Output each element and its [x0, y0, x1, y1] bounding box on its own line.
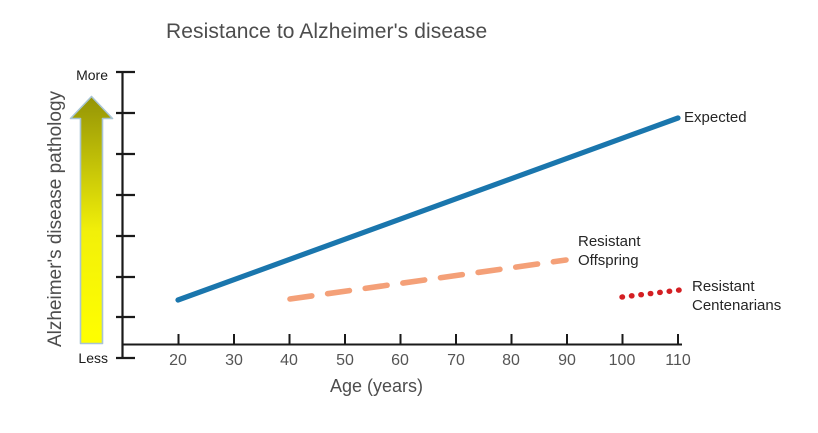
y-axis [116, 71, 135, 359]
x-tick-label-60: 60 [380, 352, 420, 370]
y-axis-low-label: Less [58, 350, 108, 366]
x-axis [122, 334, 682, 345]
series-label-resistant-offspring-line2: Offspring [578, 251, 641, 270]
x-tick-label-70: 70 [436, 352, 476, 370]
y-axis-high-label: More [58, 67, 108, 83]
x-tick-label-80: 80 [491, 352, 531, 370]
x-tick-label-100: 100 [602, 352, 642, 370]
chart-figure: Resistance to Alzheimer's disease Alzhei… [0, 0, 818, 433]
series-label-resistant-offspring-line1: Resistant [578, 232, 641, 251]
pathology-gradient-arrow [71, 97, 113, 344]
x-tick-label-30: 30 [214, 352, 254, 370]
series-resistant-offspring-line [290, 260, 566, 299]
series-label-resistant-centenarians: Resistant Centenarians [692, 277, 781, 315]
series-label-resistant-offspring: Resistant Offspring [578, 232, 641, 270]
x-tick-label-90: 90 [547, 352, 587, 370]
series-expected-line [178, 118, 678, 300]
x-axis-title: Age (years) [330, 376, 423, 397]
x-tick-label-110: 110 [658, 352, 698, 370]
series-label-expected: Expected [684, 108, 747, 127]
series-resistant-centenarians-line [622, 290, 680, 297]
x-tick-label-50: 50 [325, 352, 365, 370]
series-label-resistant-centenarians-line1: Resistant [692, 277, 781, 296]
x-tick-label-20: 20 [158, 352, 198, 370]
series-label-resistant-centenarians-line2: Centenarians [692, 296, 781, 315]
x-tick-label-40: 40 [269, 352, 309, 370]
page-title: Resistance to Alzheimer's disease [166, 20, 487, 44]
y-axis-title: Alzheimer's disease pathology [45, 59, 67, 379]
